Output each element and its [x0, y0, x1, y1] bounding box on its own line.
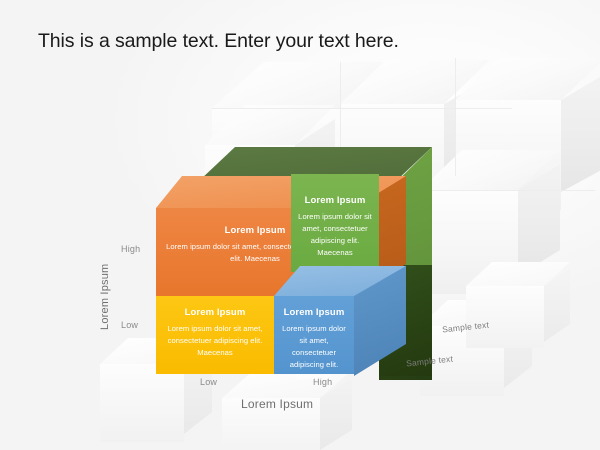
slide-canvas: This is a sample text. Enter your text h… [0, 0, 600, 450]
quadrant-bottom-left-body: Lorem ipsum dolor sit amet, consectetuer… [156, 323, 274, 358]
quadrant-bottom-left[interactable]: Lorem Ipsum Lorem ipsum dolor sit amet, … [156, 296, 274, 374]
quadrant-bottom-right-title: Lorem Ipsum [274, 308, 354, 318]
quadrant-bottom-right[interactable]: Lorem Ipsum Lorem ipsum dolor sit amet, … [274, 296, 354, 374]
quadrant-bottom-right-body: Lorem ipsum dolor sit amet, consectetuer… [274, 323, 354, 382]
quadrant-top-right-body: Lorem ipsum dolor sit amet, consectetuer… [291, 211, 379, 258]
quadrant-top-right-title: Lorem Ipsum [291, 196, 379, 206]
quadrant-top-right-visible[interactable]: Lorem Ipsum Lorem ipsum dolor sit amet, … [291, 174, 379, 272]
quadrant-matrix-3d: Lorem Ipsum Lorem ipsum dolor sit amet, … [0, 0, 600, 450]
quadrant-bottom-left-title: Lorem Ipsum [156, 308, 274, 318]
